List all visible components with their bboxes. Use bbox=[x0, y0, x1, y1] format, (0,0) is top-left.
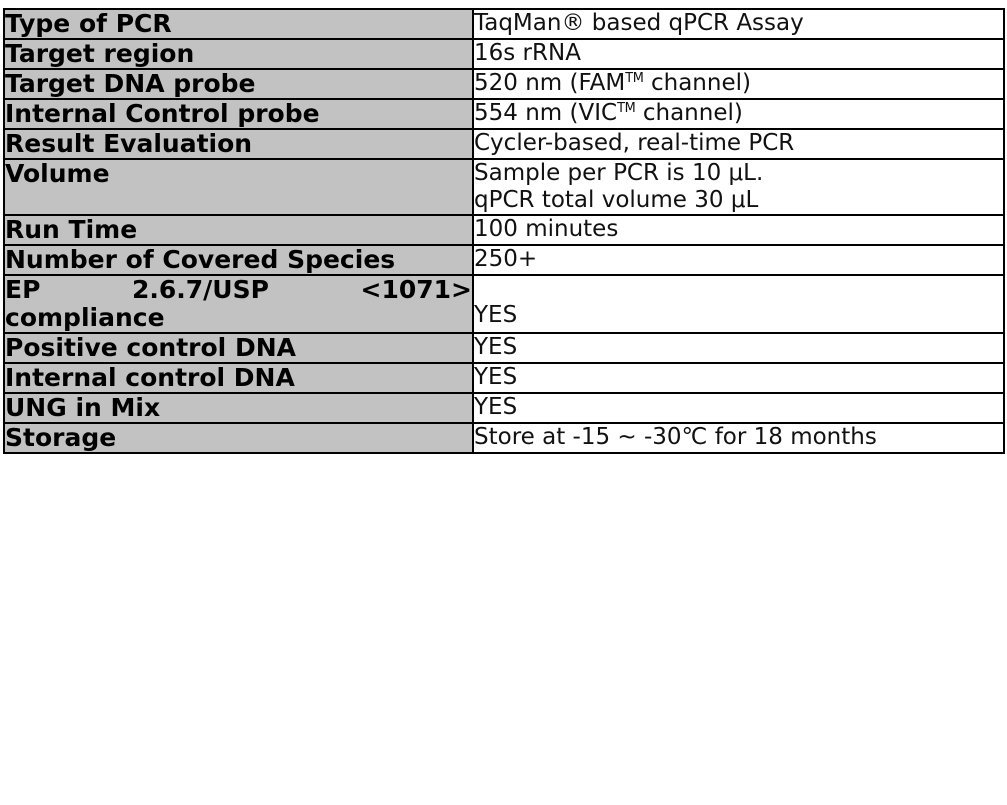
row-value-type-of-pcr: TaqMan® based qPCR Assay bbox=[473, 9, 1004, 39]
row-value-number-of-covered-species: 250+ bbox=[473, 245, 1004, 275]
label-line-1: EP 2.6.7/USP <1071> bbox=[5, 275, 472, 304]
table-row-storage: Storage Store at -15 ~ -30℃ for 18 month… bbox=[4, 423, 1004, 453]
pcr-assay-specification-table: Type of PCR TaqMan® based qPCR Assay Tar… bbox=[3, 8, 1005, 454]
label-line-2: compliance bbox=[5, 304, 472, 332]
row-label-ung-in-mix: UNG in Mix bbox=[4, 393, 473, 423]
table-row-type-of-pcr: Type of PCR TaqMan® based qPCR Assay bbox=[4, 9, 1004, 39]
table-row-run-time: Run Time 100 minutes bbox=[4, 215, 1004, 245]
table-row-number-of-covered-species: Number of Covered Species 250+ bbox=[4, 245, 1004, 275]
value-text-suffix: channel) bbox=[644, 70, 751, 96]
row-value-ung-in-mix: YES bbox=[473, 393, 1004, 423]
row-label-positive-control-dna: Positive control DNA bbox=[4, 333, 473, 363]
table-row-ep-usp-compliance: EP 2.6.7/USP <1071> compliance YES bbox=[4, 275, 1004, 333]
value-text-prefix: 520 nm (FAM bbox=[474, 70, 625, 96]
row-label-ep-usp-compliance: EP 2.6.7/USP <1071> compliance bbox=[4, 275, 473, 333]
row-label-volume: Volume bbox=[4, 159, 473, 215]
row-value-volume: Sample per PCR is 10 μL. qPCR total volu… bbox=[473, 159, 1004, 215]
table-row-internal-control-probe: Internal Control probe 554 nm (VICTM cha… bbox=[4, 99, 1004, 129]
row-label-result-evaluation: Result Evaluation bbox=[4, 129, 473, 159]
row-value-target-region: 16s rRNA bbox=[473, 39, 1004, 69]
table-body: Type of PCR TaqMan® based qPCR Assay Tar… bbox=[4, 9, 1004, 453]
row-label-number-of-covered-species: Number of Covered Species bbox=[4, 245, 473, 275]
row-value-ep-usp-compliance: YES bbox=[473, 275, 1004, 333]
row-value-run-time: 100 minutes bbox=[473, 215, 1004, 245]
value-text-prefix: 554 nm (VIC bbox=[474, 100, 617, 126]
row-value-result-evaluation: Cycler-based, real-time PCR bbox=[473, 129, 1004, 159]
table-row-result-evaluation: Result Evaluation Cycler-based, real-tim… bbox=[4, 129, 1004, 159]
value-line-1: Sample per PCR is 10 μL. bbox=[474, 160, 1003, 187]
trademark-superscript: TM bbox=[617, 101, 635, 116]
row-value-internal-control-dna: YES bbox=[473, 363, 1004, 393]
table-row-positive-control-dna: Positive control DNA YES bbox=[4, 333, 1004, 363]
trademark-superscript: TM bbox=[625, 71, 643, 86]
value-line-2: qPCR total volume 30 μL bbox=[474, 187, 1003, 214]
row-label-run-time: Run Time bbox=[4, 215, 473, 245]
table-row-volume: Volume Sample per PCR is 10 μL. qPCR tot… bbox=[4, 159, 1004, 215]
table-row-internal-control-dna: Internal control DNA YES bbox=[4, 363, 1004, 393]
table-row-target-dna-probe: Target DNA probe 520 nm (FAMTM channel) bbox=[4, 69, 1004, 99]
row-label-target-region: Target region bbox=[4, 39, 473, 69]
table-row-ung-in-mix: UNG in Mix YES bbox=[4, 393, 1004, 423]
table-row-target-region: Target region 16s rRNA bbox=[4, 39, 1004, 69]
row-value-positive-control-dna: YES bbox=[473, 333, 1004, 363]
row-value-storage: Store at -15 ~ -30℃ for 18 months bbox=[473, 423, 1004, 453]
row-value-target-dna-probe: 520 nm (FAMTM channel) bbox=[473, 69, 1004, 99]
value-text-suffix: channel) bbox=[636, 100, 743, 126]
row-value-internal-control-probe: 554 nm (VICTM channel) bbox=[473, 99, 1004, 129]
row-label-target-dna-probe: Target DNA probe bbox=[4, 69, 473, 99]
row-label-storage: Storage bbox=[4, 423, 473, 453]
row-label-internal-control-probe: Internal Control probe bbox=[4, 99, 473, 129]
row-label-type-of-pcr: Type of PCR bbox=[4, 9, 473, 39]
row-label-internal-control-dna: Internal control DNA bbox=[4, 363, 473, 393]
